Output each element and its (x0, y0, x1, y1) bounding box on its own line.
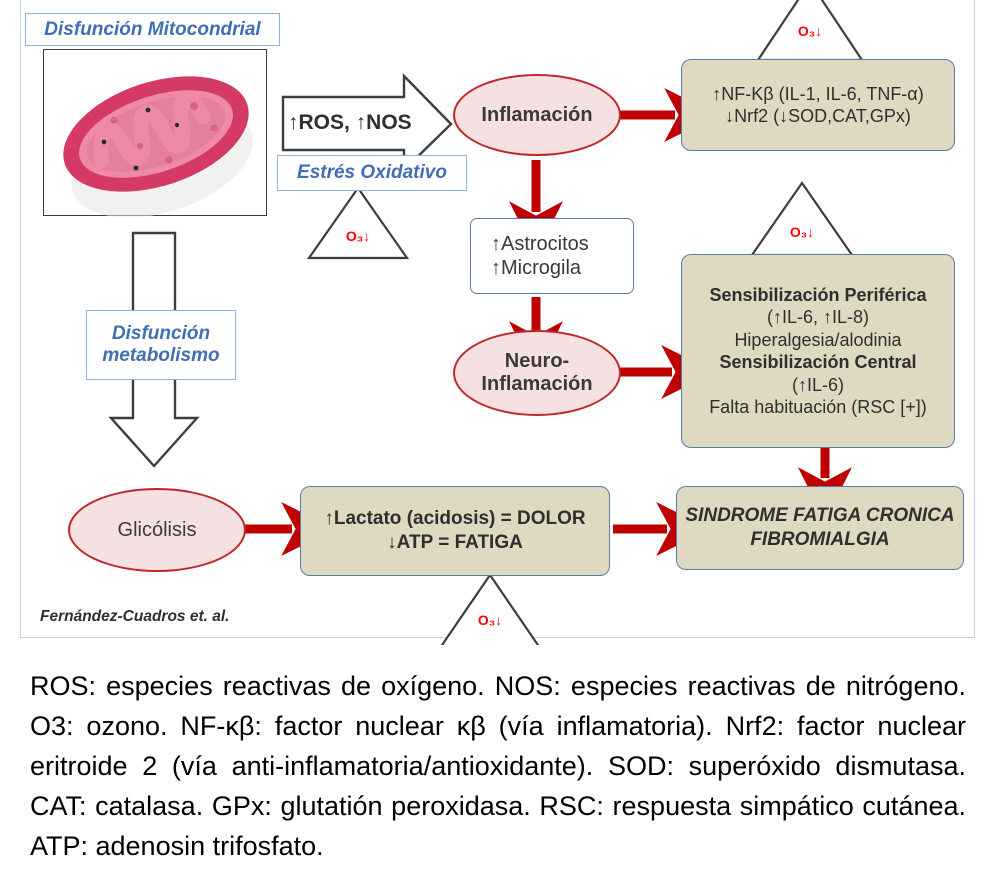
node-sensitization-line2: (↑IL-6, ↑IL-8) (767, 306, 869, 329)
node-sensitization-line5: (↑IL-6) (792, 374, 844, 397)
node-syndrome: SINDROME FATIGA CRONICA FIBROMIALGIA (676, 486, 964, 570)
node-syndrome-line1: SINDROME FATIGA CRONICA (685, 504, 954, 528)
ozone-marker-oxidative-stress: O₃↓ (309, 228, 407, 248)
node-glia: ↑Astrocitos ↑Microgila (470, 218, 634, 294)
node-neuroinflammation-line1: Neuro- (505, 350, 569, 373)
node-glia-line2: ↑Microgila (491, 256, 581, 280)
node-neuroinflammation-line2: Inflamación (481, 373, 592, 396)
label-metabolic-dysfunction-line2: metabolismo (102, 345, 219, 367)
figure-caption-text: ROS: especies reactivas de oxígeno. NOS:… (30, 667, 966, 867)
node-sensitization: Sensibilización Periférica (↑IL-6, ↑IL-8… (681, 254, 955, 448)
node-glycolysis-label: Glicólisis (118, 519, 197, 542)
label-metabolic-dysfunction-line1: Disfunción (112, 323, 210, 345)
node-sensitization-line4: Sensibilización Central (719, 351, 916, 374)
ozone-marker-sensitization-label: O₃↓ (752, 224, 852, 240)
label-mitochondrial-dysfunction: Disfunción Mitocondrial (25, 13, 280, 46)
node-nfkb-line2: ↓Nrf2 (↓SOD,CAT,GPx) (725, 105, 911, 128)
label-mitochondrial-dysfunction-text: Disfunción Mitocondrial (44, 19, 260, 41)
mitochondria-icon (44, 50, 268, 217)
ozone-marker-lactate: O₃↓ (440, 612, 540, 632)
ozone-marker-lactate-label: O₃↓ (440, 612, 540, 628)
node-sensitization-line6: Falta habituación (RSC [+]) (709, 396, 927, 419)
node-lactate-line1: ↑Lactato (acidosis) = DOLOR (324, 507, 585, 531)
figure-caption: ROS: especies reactivas de oxígeno. NOS:… (0, 645, 996, 890)
ozone-marker-sensitization: O₃↓ (752, 224, 852, 244)
figure-signature-text: Fernández-Cuadros et. al. (40, 608, 229, 625)
node-sensitization-line3: Hiperalgesia/alodinia (734, 329, 901, 352)
node-nfkb: ↑NF-Κβ (IL-1, IL-6, TNF-α) ↓Nrf2 (↓SOD,C… (681, 59, 955, 151)
figure-panel: Disfunción Mitocondrial Estrés Oxidativo… (0, 0, 996, 645)
node-lactate-line2: ↓ATP = FATIGA (387, 531, 523, 555)
ozone-marker-nfkb-label: O₃↓ (758, 23, 862, 39)
node-glia-line1: ↑Astrocitos (491, 232, 589, 256)
node-glycolysis: Glicólisis (68, 488, 246, 572)
node-inflammation: Inflamación (453, 74, 621, 156)
ozone-marker-oxidative-stress-label: O₃↓ (309, 228, 407, 244)
node-syndrome-line2: FIBROMIALGIA (750, 528, 889, 552)
node-sensitization-line1: Sensibilización Periférica (709, 284, 926, 307)
figure-signature: Fernández-Cuadros et. al. (40, 608, 229, 626)
ozone-marker-nfkb: O₃↓ (758, 23, 862, 43)
label-oxidative-stress-text: Estrés Oxidativo (297, 162, 447, 184)
label-oxidative-stress: Estrés Oxidativo (277, 155, 467, 191)
node-nfkb-line1: ↑NF-Κβ (IL-1, IL-6, TNF-α) (712, 83, 923, 106)
node-neuroinflammation: Neuro- Inflamación (453, 330, 621, 416)
mitochondria-image-box (43, 49, 267, 216)
label-ros-nos: ↑ROS, ↑NOS (288, 103, 438, 143)
label-metabolic-dysfunction: Disfunción metabolismo (86, 310, 236, 380)
node-lactate: ↑Lactato (acidosis) = DOLOR ↓ATP = FATIG… (300, 486, 610, 576)
label-ros-nos-text: ↑ROS, ↑NOS (288, 111, 412, 135)
node-inflammation-label: Inflamación (481, 104, 592, 127)
